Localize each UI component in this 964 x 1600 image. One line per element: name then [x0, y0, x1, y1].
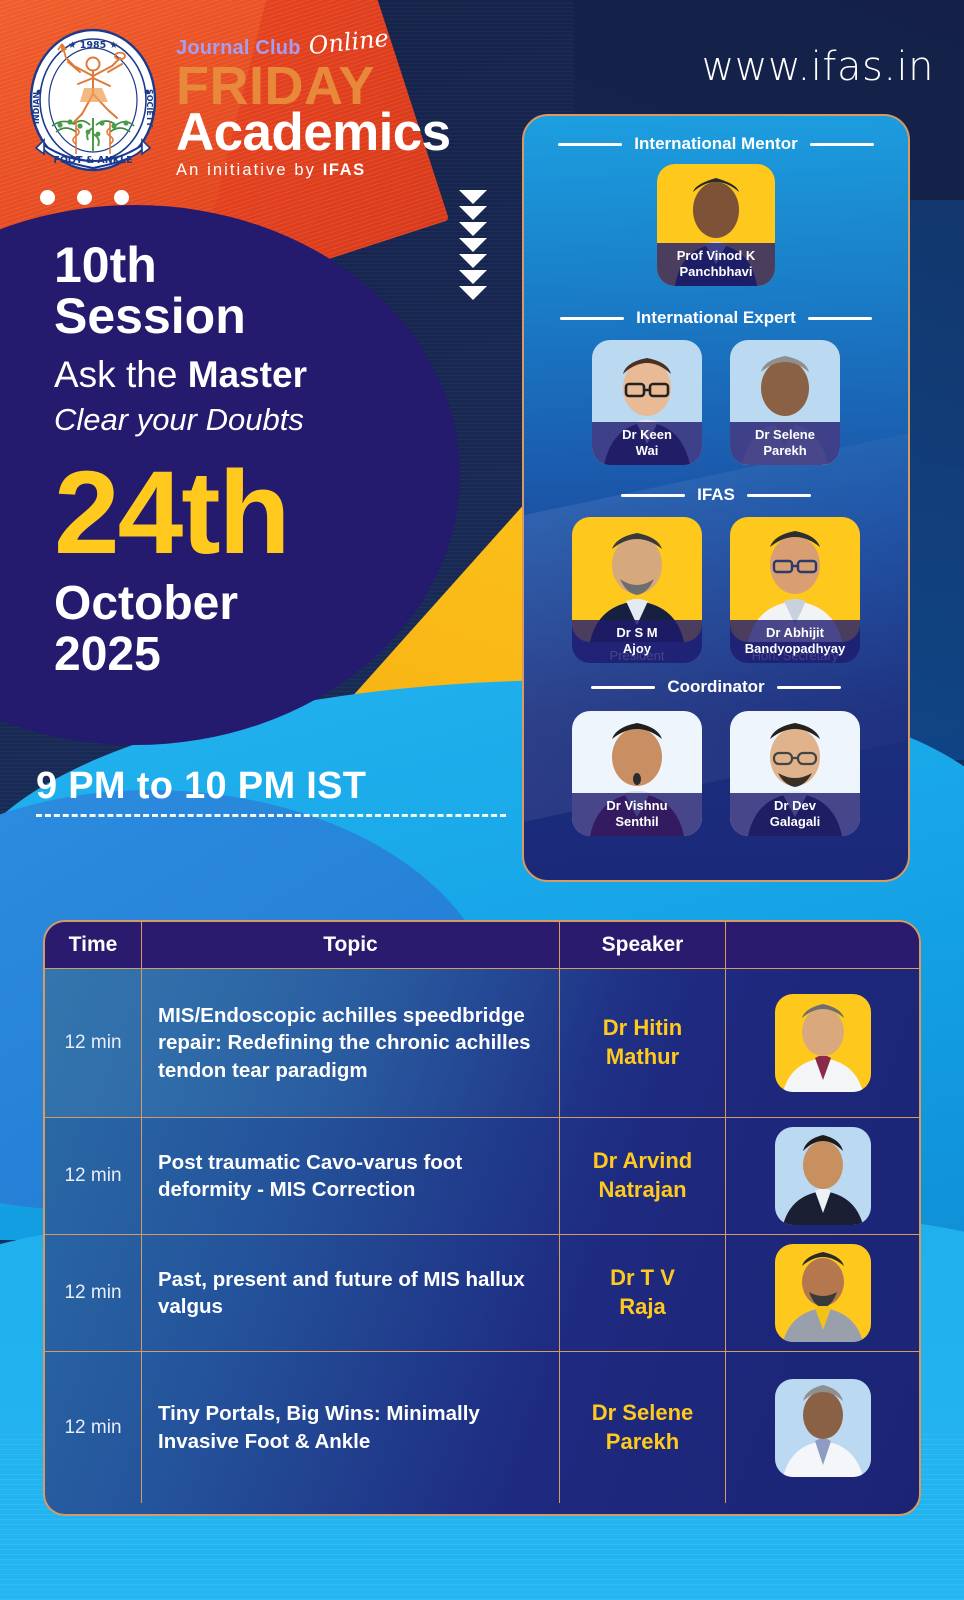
table-row[interactable]: 12 min Post traumatic Cavo-varus foot de…: [45, 1117, 919, 1234]
faculty-nameplate: Dr Keen Wai: [592, 422, 702, 465]
schedule-table: Time Topic Speaker 12 min MIS/Endoscopic…: [43, 920, 921, 1516]
column-header-topic: Topic: [142, 922, 560, 968]
faculty-name-line1: Dr S M: [574, 625, 700, 640]
row-topic: Tiny Portals, Big Wins: Minimally Invasi…: [142, 1352, 560, 1503]
chevron-down-icon: [459, 190, 487, 204]
speaker-avatar: [775, 994, 871, 1092]
dot-1: [40, 190, 55, 205]
decorative-dots: [40, 190, 129, 205]
row-speaker-line2: Raja: [610, 1293, 675, 1322]
mentor-row: Prof Vinod K Panchbhavi: [524, 164, 908, 286]
online-label: Online: [307, 24, 390, 60]
row-topic: Post traumatic Cavo-varus foot deformity…: [142, 1118, 560, 1234]
faculty-name-line1: Dr Vishnu: [574, 798, 700, 813]
session-subtitle: Ask the Master: [54, 350, 484, 400]
svg-text:★ 1985 ★: ★ 1985 ★: [68, 40, 118, 51]
svg-text:FOOT & ANKLE: FOOT & ANKLE: [53, 155, 132, 166]
dot-2: [77, 190, 92, 205]
ifas-logo: ★ 1985 ★ INDIAN SOCIETY: [22, 22, 164, 182]
session-subtitle-bold: Master: [188, 354, 307, 395]
chevron-down-icon: [459, 206, 487, 220]
row-time: 12 min: [45, 969, 142, 1117]
row-speaker-line2: Natrajan: [593, 1176, 692, 1205]
portrait-illustration: [775, 1379, 871, 1477]
title-rule-right: [810, 143, 874, 146]
svg-text:SOCIETY: SOCIETY: [145, 89, 154, 127]
brand-lockup: Journal Club Online FRIDAY Academics An …: [176, 30, 506, 180]
row-photo-cell: [726, 1235, 919, 1351]
row-speaker-line2: Mathur: [603, 1043, 682, 1072]
faculty-name-line2: Galagali: [732, 814, 858, 829]
faculty-name-line2: Parekh: [732, 443, 838, 458]
session-year: 2025: [54, 629, 484, 681]
chevron-down-icon: [459, 222, 487, 236]
row-speaker: Dr Hitin Mathur: [560, 969, 726, 1117]
section-title-international-expert: International Expert: [546, 308, 886, 328]
column-header-speaker: Speaker: [560, 922, 726, 968]
faculty-nameplate: Dr Vishnu Senthil: [572, 793, 702, 836]
faculty-card-ifas-secretary[interactable]: Dr Abhijit Bandyopadhyay Hon. Secretary: [730, 517, 860, 663]
row-topic: MIS/Endoscopic achilles speedbridge repa…: [142, 969, 560, 1117]
row-time: 12 min: [45, 1118, 142, 1234]
faculty-name-line1: Dr Keen: [594, 427, 700, 442]
speaker-avatar: [775, 1379, 871, 1477]
row-topic: Past, present and future of MIS hallux v…: [142, 1235, 560, 1351]
session-number-line1: 10th: [54, 240, 484, 291]
section-title-text: International Mentor: [634, 134, 797, 154]
faculty-card-expert-2[interactable]: Dr Selene Parekh: [730, 340, 840, 465]
session-subtitle-plain: Ask the: [54, 354, 188, 395]
session-number-line2: Session: [54, 291, 484, 342]
table-row[interactable]: 12 min Past, present and future of MIS h…: [45, 1234, 919, 1351]
portrait-illustration: [775, 994, 871, 1092]
faculty-name-line2: Panchbhavi: [659, 264, 773, 279]
row-time: 12 min: [45, 1352, 142, 1503]
faculty-card-expert-1[interactable]: Dr Keen Wai: [592, 340, 702, 465]
faculty-nameplate: Dr S M Ajoy: [572, 620, 702, 663]
faculty-card-coordinator-2[interactable]: Dr Dev Galagali: [730, 711, 860, 836]
faculty-name-line1: Dr Dev: [732, 798, 858, 813]
row-speaker: Dr Selene Parekh: [560, 1352, 726, 1503]
row-speaker-line1: Dr T V: [610, 1264, 675, 1293]
row-photo-cell: [726, 1118, 919, 1234]
session-day: 24th: [54, 456, 484, 572]
session-time-block: 9 PM to 10 PM IST: [36, 765, 506, 817]
row-speaker: Dr T V Raja: [560, 1235, 726, 1351]
table-header-row: Time Topic Speaker: [45, 922, 919, 968]
session-time: 9 PM to 10 PM IST: [36, 765, 506, 808]
session-month: October: [54, 578, 484, 630]
table-row[interactable]: 12 min MIS/Endoscopic achilles speedbrid…: [45, 968, 919, 1117]
faculty-name-line2: Wai: [594, 443, 700, 458]
column-header-time: Time: [45, 922, 142, 968]
faculty-card-mentor[interactable]: Prof Vinod K Panchbhavi: [657, 164, 775, 286]
faculty-card-coordinator-1[interactable]: Dr Vishnu Senthil: [572, 711, 702, 836]
faculty-panel: International Mentor Prof Vinod K Panchb…: [522, 114, 910, 882]
row-speaker-line1: Dr Selene: [592, 1399, 694, 1428]
faculty-name-line2: Bandyopadhyay: [732, 641, 858, 656]
portrait-illustration: [775, 1127, 871, 1225]
faculty-name-line2: Ajoy: [574, 641, 700, 656]
faculty-nameplate: Dr Selene Parekh: [730, 422, 840, 465]
faculty-name-line1: Dr Abhijit: [732, 625, 858, 640]
initiative-prefix: An initiative by: [176, 161, 323, 179]
faculty-name-line1: Prof Vinod K: [659, 248, 773, 263]
title-rule-left: [560, 317, 624, 320]
session-time-underline: [36, 814, 506, 817]
faculty-nameplate: Dr Abhijit Bandyopadhyay: [730, 620, 860, 663]
dot-3: [114, 190, 129, 205]
row-speaker-line2: Parekh: [592, 1428, 694, 1457]
faculty-name-line1: Dr Selene: [732, 427, 838, 442]
section-title-text: International Expert: [636, 308, 796, 328]
faculty-card-ifas-president[interactable]: Dr S M Ajoy President: [572, 517, 702, 663]
academics-wordmark: Academics: [176, 108, 506, 158]
row-speaker-line1: Dr Arvind: [593, 1147, 692, 1176]
speaker-avatar: [775, 1127, 871, 1225]
svg-text:INDIAN: INDIAN: [32, 92, 41, 124]
title-rule-left: [558, 143, 622, 146]
faculty-nameplate: Prof Vinod K Panchbhavi: [657, 243, 775, 286]
title-rule-right: [808, 317, 872, 320]
row-photo-cell: [726, 969, 919, 1117]
section-title-international-mentor: International Mentor: [546, 134, 886, 154]
session-info: 10th Session Ask the Master Clear your D…: [54, 240, 484, 681]
speaker-avatar: [775, 1244, 871, 1342]
faculty-name-line2: Senthil: [574, 814, 700, 829]
ifas-logo-emblem: ★ 1985 ★ INDIAN SOCIETY: [22, 22, 164, 182]
row-time: 12 min: [45, 1235, 142, 1351]
session-tagline: Clear your Doubts: [54, 402, 484, 438]
row-photo-cell: [726, 1352, 919, 1503]
table-row[interactable]: 12 min Tiny Portals, Big Wins: Minimally…: [45, 1351, 919, 1503]
initiative-line: An initiative by IFAS: [176, 161, 506, 180]
faculty-nameplate: Dr Dev Galagali: [730, 793, 860, 836]
initiative-org: IFAS: [323, 161, 366, 179]
column-header-photo: [726, 922, 919, 968]
row-speaker: Dr Arvind Natrajan: [560, 1118, 726, 1234]
row-speaker-line1: Dr Hitin: [603, 1014, 682, 1043]
portrait-illustration: [775, 1244, 871, 1342]
website-url[interactable]: www.ifas.in: [702, 44, 934, 90]
